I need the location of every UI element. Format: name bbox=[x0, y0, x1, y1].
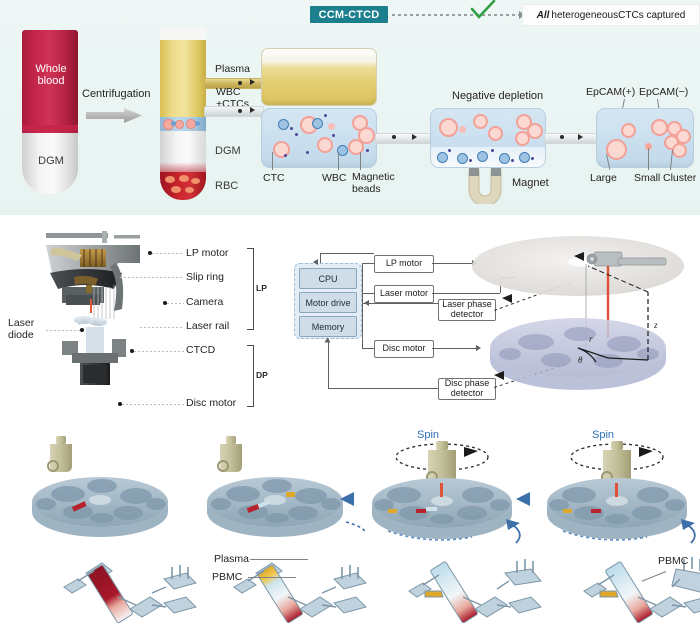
controller-group: CPU Motor drive Memory bbox=[294, 263, 362, 339]
coord-label-theta: θ bbox=[578, 355, 583, 365]
disc-and-pickup-diagram: r θ z bbox=[458, 230, 696, 410]
callout-ctc: CTC bbox=[263, 172, 285, 184]
label-disc-motor: Disc motor bbox=[186, 397, 236, 409]
panel-disc-operation-sequence: Plasma PBMC Spin bbox=[0, 425, 700, 627]
flow-arrow-3 bbox=[340, 491, 358, 507]
whole-blood-tube bbox=[22, 30, 78, 194]
green-check-icon bbox=[470, 0, 496, 20]
depleted-wbc-band bbox=[431, 147, 545, 167]
label-slip-ring: Slip ring bbox=[186, 271, 224, 283]
brace-lp bbox=[247, 248, 254, 330]
label-camera: Camera bbox=[186, 296, 223, 308]
plasma-reservoir bbox=[261, 48, 377, 106]
block-motor-drive: Motor drive bbox=[299, 292, 357, 313]
label-laser-rail: Laser rail bbox=[186, 320, 229, 332]
whole-blood-label: Whole blood bbox=[33, 63, 69, 88]
wbc-ctc-channel bbox=[204, 106, 264, 117]
label-lp-motor: LP motor bbox=[186, 247, 228, 259]
tube2-air bbox=[160, 28, 206, 40]
callout-wbc: WBC bbox=[322, 172, 347, 184]
callout-cluster: Cluster bbox=[663, 172, 696, 184]
callout-large: Large bbox=[590, 172, 617, 184]
connector-tube-1 bbox=[375, 133, 433, 144]
block-laser-motor: Laser motor bbox=[374, 285, 434, 303]
label-pbmc-step4: PBMC bbox=[658, 555, 688, 567]
dgm-label-tube1: DGM bbox=[34, 155, 68, 167]
callout-magnetic-beads: Magnetic beads bbox=[352, 172, 398, 196]
centrifugation-label: Centrifugation bbox=[82, 88, 151, 100]
disc-step-4 bbox=[535, 427, 700, 557]
coord-label-z: z bbox=[653, 320, 658, 330]
outcome-textbox: AllheterogeneousCTCs captured bbox=[522, 4, 700, 26]
cartridge-icon bbox=[218, 436, 242, 472]
block-disc-motor: Disc motor bbox=[374, 340, 434, 358]
panel-blood-processing-workflow: CCM-CTCD AllheterogeneousCTCs captured W… bbox=[0, 0, 700, 215]
connector-tube-2 bbox=[544, 133, 599, 144]
disc-step-2 bbox=[190, 430, 365, 558]
brace-dp-label: DP bbox=[256, 370, 268, 380]
cartridge-icon bbox=[48, 436, 72, 472]
label-laser-diode: Laser diode bbox=[8, 318, 48, 342]
label-pbmc-step2: PBMC bbox=[212, 571, 242, 583]
label-ctcd: CTCD bbox=[186, 344, 215, 356]
brace-dp bbox=[247, 345, 254, 407]
coord-label-r: r bbox=[589, 334, 593, 344]
brace-lp-label: LP bbox=[256, 283, 267, 293]
block-cpu: CPU bbox=[299, 268, 357, 289]
callout-epcam-negative: EpCAM(−) bbox=[639, 86, 688, 98]
rbc-label: RBC bbox=[215, 180, 238, 192]
disc-step-3 bbox=[360, 427, 540, 557]
panel-instrument-schematic: LP motor Slip ring Camera Laser rail CTC… bbox=[0, 215, 700, 425]
tube2-rbc-layer bbox=[160, 172, 206, 200]
figure-root: CCM-CTCD AllheterogeneousCTCs captured W… bbox=[0, 0, 700, 627]
epcam-negative-cell bbox=[651, 119, 668, 136]
negative-depletion-title: Negative depletion bbox=[452, 90, 543, 102]
outcome-rest: heterogeneousCTCs captured bbox=[551, 10, 685, 21]
plasma-channel-label: Plasma bbox=[215, 64, 250, 76]
negative-depletion-chamber bbox=[430, 108, 546, 168]
callout-small: Small bbox=[634, 172, 660, 184]
outcome-emphasis: All bbox=[537, 10, 550, 21]
magnet-label: Magnet bbox=[512, 177, 549, 189]
cartridge-detail-1 bbox=[60, 547, 210, 627]
disc-step-1 bbox=[20, 430, 180, 555]
separated-blood-tube bbox=[160, 28, 206, 200]
block-memory: Memory bbox=[299, 316, 357, 337]
block-lp-motor: LP motor bbox=[374, 255, 434, 273]
centrifugation-arrow-icon bbox=[86, 108, 142, 123]
magnet-icon bbox=[464, 166, 506, 204]
captured-ctc-chamber bbox=[596, 108, 694, 168]
large-ctc bbox=[606, 139, 627, 160]
epcam-positive-cell bbox=[621, 123, 636, 138]
flow-arrow-4 bbox=[516, 491, 534, 507]
label-plasma-step2: Plasma bbox=[214, 553, 249, 565]
tube2-buffy-coat bbox=[160, 117, 206, 131]
callout-epcam-positive: EpCAM(+) bbox=[586, 86, 635, 98]
ccm-ctcd-badge: CCM-CTCD bbox=[310, 6, 388, 23]
dgm-label-tube2: DGM bbox=[215, 145, 241, 157]
workflow-dashed-arrow bbox=[392, 14, 520, 16]
ctcd-instrument-photo bbox=[28, 223, 178, 413]
tube2-plasma-layer bbox=[160, 40, 206, 117]
cartridge-detail-3 bbox=[405, 547, 555, 627]
